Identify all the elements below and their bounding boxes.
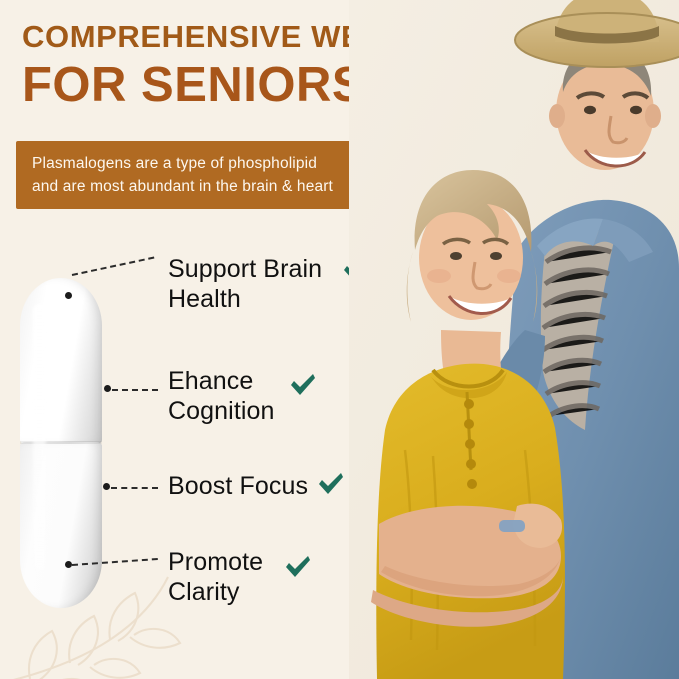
benefit-1-line-2: Health bbox=[168, 284, 348, 314]
couple-photo-artwork bbox=[349, 0, 679, 679]
check-icon bbox=[283, 553, 313, 583]
callout-dot-4 bbox=[65, 561, 72, 568]
callout-line-2 bbox=[112, 389, 158, 391]
callout-line-3 bbox=[111, 487, 158, 489]
check-icon bbox=[288, 371, 318, 401]
benefit-1-line-1: Support Brain bbox=[168, 254, 348, 284]
couple-photo bbox=[349, 0, 679, 679]
capsule-highlight bbox=[33, 304, 46, 572]
callout-dot-3 bbox=[103, 483, 110, 490]
check-icon bbox=[316, 470, 346, 500]
benefit-2-line-2: Cognition bbox=[168, 396, 348, 426]
callout-dot-1 bbox=[65, 292, 72, 299]
ribbon-text: Plasmalogens are a type of phospholipid … bbox=[32, 152, 360, 198]
infographic-canvas: Comprehensive Wellness For Seniors Plasm… bbox=[0, 0, 679, 679]
capsule-image bbox=[20, 278, 102, 606]
ribbon-text-line-1: Plasmalogens are a type of phospholipid bbox=[32, 152, 360, 175]
benefit-label-1: Support Brain Health bbox=[168, 254, 348, 314]
ribbon-text-line-2: and are most abundant in the brain & hea… bbox=[32, 175, 360, 198]
callout-dot-2 bbox=[104, 385, 111, 392]
benefit-4-line-1: Promote bbox=[168, 547, 348, 577]
callout-line-1 bbox=[72, 257, 155, 276]
ribbon-banner: Plasmalogens are a type of phospholipid … bbox=[16, 141, 394, 209]
benefit-2-line-1: Ehance bbox=[168, 366, 348, 396]
benefit-4-line-2: Clarity bbox=[168, 577, 348, 607]
benefit-label-2: Ehance Cognition bbox=[168, 366, 348, 426]
benefit-label-4: Promote Clarity bbox=[168, 547, 348, 607]
